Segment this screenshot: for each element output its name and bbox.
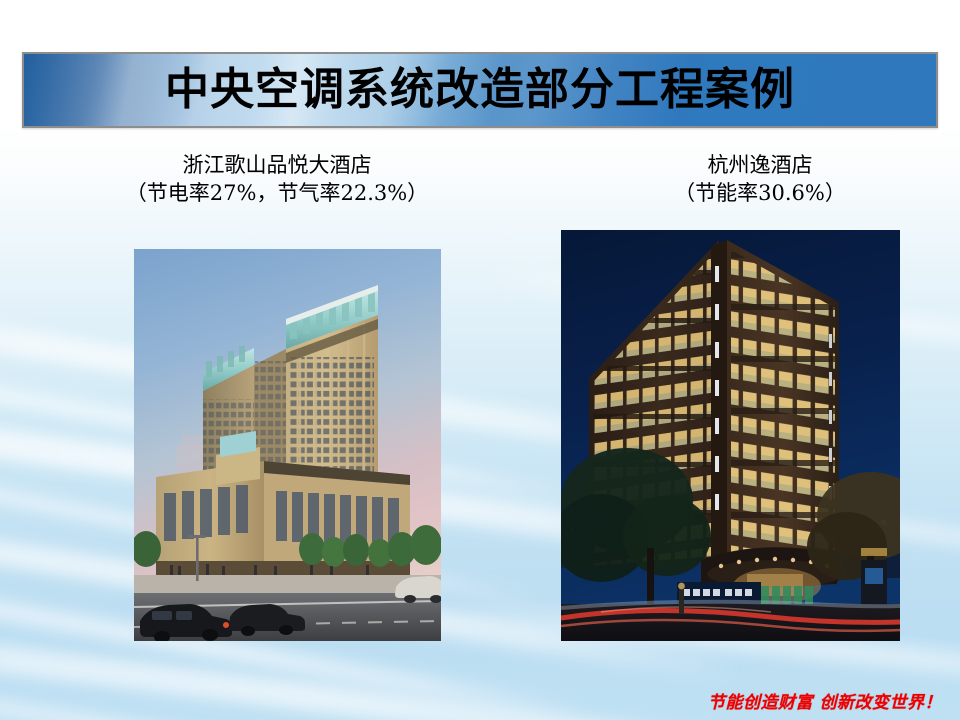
case-right-name: 杭州逸酒店 (580, 152, 940, 180)
case-right-stats: （节能率30.6%） (580, 180, 940, 208)
case-left-name: 浙江歌山品悦大酒店 (62, 152, 492, 180)
case-left-stats: （节电率27%，节气率22.3%） (62, 180, 492, 208)
case-caption-right: 杭州逸酒店 （节能率30.6%） (580, 152, 940, 207)
case-right-photo-graphic (561, 230, 900, 641)
case-right-photo (561, 230, 900, 641)
footer-slogan: 节能创造财富 创新改变世界！ (700, 688, 950, 713)
title-banner: 中央空调系统改造部分工程案例 (22, 52, 938, 128)
case-caption-left: 浙江歌山品悦大酒店 （节电率27%，节气率22.3%） (62, 152, 492, 207)
case-left-photo-graphic (134, 249, 441, 641)
slide-canvas: 中央空调系统改造部分工程案例 浙江歌山品悦大酒店 （节电率27%，节气率22.3… (0, 0, 960, 720)
page-title: 中央空调系统改造部分工程案例 (24, 54, 936, 126)
case-left-photo (134, 249, 441, 641)
